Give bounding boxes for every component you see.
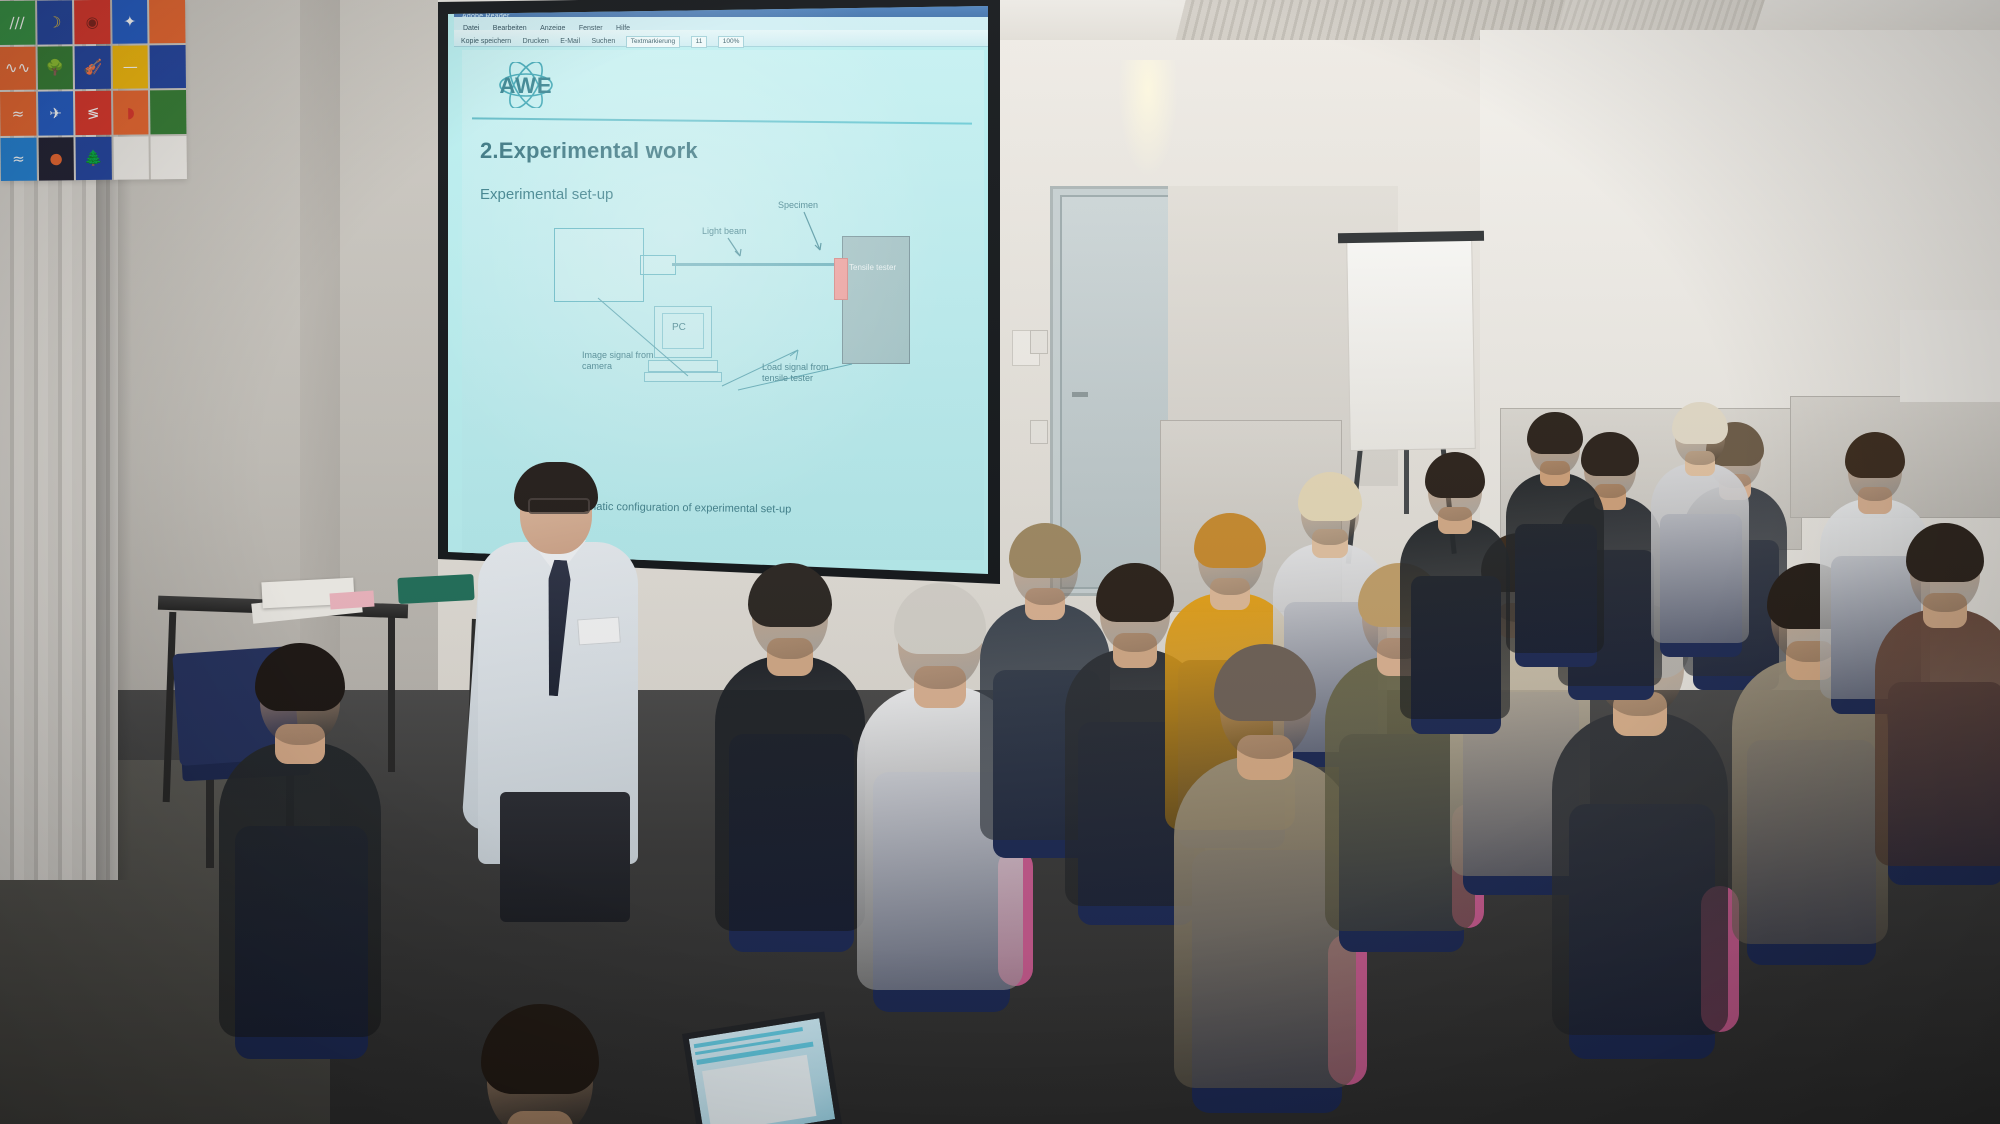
audience-torso-18 <box>1875 609 2000 866</box>
audience-hair-12 <box>1425 452 1486 498</box>
green-bag <box>397 574 474 604</box>
wall-art-white-panel <box>1900 310 2000 402</box>
audience-person-1 <box>207 640 393 1105</box>
slide-header-rule <box>472 117 972 124</box>
audience-hair-1 <box>255 643 345 711</box>
audience-hair-7 <box>1194 513 1267 568</box>
audience-hair-20 <box>1527 412 1582 454</box>
audience-hair-8 <box>1298 472 1362 520</box>
presentation-room-scene: Adobe Reader Datei Bearbeiten Anzeige Fe… <box>0 0 2000 1124</box>
audience-person-19 <box>1643 400 1757 685</box>
diagram-label-load-signal: Load signal from tensile tester <box>762 362 829 384</box>
diagram-label-light-beam: Light beam <box>702 226 747 236</box>
toolbar-search[interactable]: Suchen <box>591 34 615 50</box>
ceiling-lamp-glow <box>1118 60 1178 178</box>
audience-hair-3 <box>748 563 832 627</box>
toolbar-highlight-tool[interactable]: Textmarkierung <box>626 36 680 48</box>
audience-torso-20 <box>1506 473 1605 654</box>
audience-person-2 <box>417 1000 663 1124</box>
diagram-beam-line <box>672 263 840 266</box>
wall-socket[interactable] <box>1030 420 1048 444</box>
diagram-label-specimen: Specimen <box>778 200 818 210</box>
art-tile-11: ≈ <box>0 92 36 136</box>
art-tile-17: ● <box>38 137 74 181</box>
art-tile-10 <box>150 45 186 89</box>
audience-torso-3 <box>715 656 866 932</box>
art-tile-8: 🎻 <box>75 45 111 89</box>
audience-person-18 <box>1864 520 2000 925</box>
audience-hair-18 <box>1906 523 1984 582</box>
presenter-name-badge <box>577 617 621 646</box>
art-tile-5 <box>149 0 185 43</box>
audience-torso-12 <box>1400 519 1509 719</box>
art-tile-18: 🌲 <box>76 136 112 180</box>
toolbar-email[interactable]: E-Mail <box>560 34 580 50</box>
pdf-toolbar[interactable]: Kopie speichern Drucken E-Mail Suchen Te… <box>454 30 988 47</box>
awe-logo-icon: AWE <box>486 62 566 108</box>
art-tile-3: ◉ <box>74 0 110 44</box>
art-tile-9: — <box>112 45 148 89</box>
slide-heading: 2.Experimental work <box>480 138 698 164</box>
audience-hair-17 <box>1845 432 1906 478</box>
flipchart-paper <box>1346 239 1476 451</box>
pink-paper <box>329 590 374 609</box>
audience-hair-2 <box>481 1004 600 1094</box>
art-tile-12: ✈ <box>38 91 74 135</box>
light-switch[interactable] <box>1030 330 1048 354</box>
art-tile-7: 🌳 <box>37 46 73 90</box>
diagram-connector-lines <box>562 290 922 400</box>
toolbar-save-copy[interactable]: Kopie speichern <box>461 34 511 50</box>
slide-subheading: Experimental set-up <box>480 186 613 203</box>
ceiling-vent-grid-2 <box>1555 0 1765 30</box>
art-tile-15 <box>150 90 186 134</box>
zoom-level-field[interactable]: 100% <box>718 36 745 48</box>
audience-torso-13 <box>1552 712 1729 1035</box>
audience-torso-1 <box>219 742 380 1037</box>
art-tile-14: ◗ <box>113 90 149 134</box>
art-tile-16: ≈ <box>0 137 36 181</box>
art-tile-19 <box>113 136 149 180</box>
wall-art-grid: ///☽◉✦∿∿🌳🎻—≈✈≶◗≈●🌲 <box>0 0 187 181</box>
art-tile-20 <box>151 136 187 180</box>
audience-person-20 <box>1498 410 1612 695</box>
art-tile-6: ∿∿ <box>0 46 36 90</box>
presenter-trousers <box>500 792 630 922</box>
diagram-collimator-box <box>640 255 676 275</box>
page-number-field[interactable]: 11 <box>691 36 708 48</box>
arrow-down-icon-lightbeam <box>724 236 750 262</box>
svg-text:AWE: AWE <box>499 73 552 98</box>
art-tile-2: ☽ <box>37 0 73 44</box>
presenter-glasses <box>528 498 590 514</box>
door-handle[interactable] <box>1072 392 1088 397</box>
arrow-down-icon-specimen <box>798 210 830 258</box>
toolbar-print[interactable]: Drucken <box>523 34 549 50</box>
art-tile-13: ≶ <box>75 91 111 135</box>
diagram-label-camera-signal: Image signal from camera <box>582 350 654 372</box>
audience-hair-19 <box>1672 402 1727 444</box>
audience-hair-9 <box>1214 644 1316 721</box>
art-tile-1: /// <box>0 1 35 45</box>
pdf-menu-bar[interactable]: Datei Bearbeiten Anzeige Fenster Hilfe <box>454 17 988 31</box>
audience-torso-19 <box>1651 463 1750 644</box>
art-tile-4: ✦ <box>112 0 148 43</box>
diagram-label-tensile-tester: Tensile tester <box>849 263 896 272</box>
